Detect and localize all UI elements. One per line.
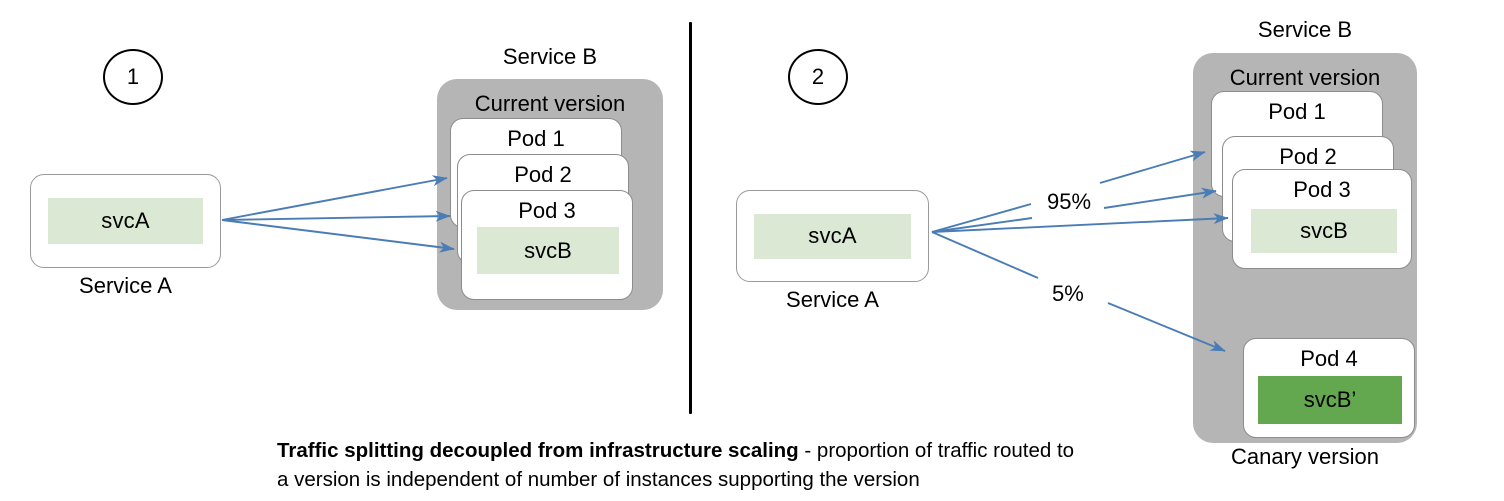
svcb-prime-chip: svcB’ — [1258, 376, 1402, 424]
pod-title: Pod 2 — [1223, 144, 1393, 170]
pod-card-1-3[interactable]: Pod 3 svcB — [461, 190, 633, 300]
figure-caption: Traffic splitting decoupled from infrast… — [277, 436, 1077, 494]
pod-title: Pod 3 — [1233, 177, 1411, 203]
pod-title: Pod 2 — [458, 162, 628, 188]
pod-card-2-4[interactable]: Pod 4 svcB’ — [1243, 338, 1415, 438]
current-version-label-1: Current version — [437, 91, 663, 117]
pod-title: Pod 3 — [462, 198, 632, 224]
caption-bold: Traffic splitting decoupled from infrast… — [277, 439, 799, 462]
pod-title: Pod 4 — [1244, 346, 1414, 372]
arrow-to-pod-2-4-seg1 — [932, 232, 1038, 278]
arrow-to-pod-2-3 — [932, 218, 1228, 232]
traffic-percent-label-95: 95% — [1041, 188, 1097, 216]
service-b-title-1: Service B — [437, 44, 663, 70]
service-b-title-2: Service B — [1193, 17, 1417, 43]
service-a-card-2[interactable]: svcA — [736, 190, 929, 282]
step-number-label: 2 — [812, 66, 824, 88]
canary-version-label: Canary version — [1193, 444, 1417, 470]
step-number-label: 1 — [127, 66, 139, 88]
panel-divider — [689, 22, 692, 414]
diagram-canvas: 1 svcA Service A Service B Current versi… — [0, 0, 1504, 501]
svcb-chip-2: svcB — [1251, 209, 1397, 253]
svcb-chip-1: svcB — [477, 227, 619, 274]
arrow-group-panel-1 — [222, 178, 454, 249]
arrow-to-pod-2-1-seg1 — [932, 204, 1031, 232]
pod-title: Pod 1 — [451, 126, 621, 152]
service-a-caption-1: Service A — [30, 273, 221, 299]
svca-chip-1: svcA — [48, 198, 203, 244]
svca-chip-2: svcA — [754, 214, 911, 259]
arrow-to-pod-2-1-seg2 — [1100, 152, 1205, 183]
current-version-label-2: Current version — [1193, 65, 1417, 91]
traffic-percent-label-5: 5% — [1046, 280, 1090, 308]
pod-title: Pod 1 — [1212, 99, 1382, 125]
step-number-circle-1: 1 — [103, 49, 163, 105]
pod-card-2-3[interactable]: Pod 3 svcB — [1232, 169, 1412, 269]
arrow-to-pod-1-2 — [222, 216, 450, 220]
service-a-caption-2: Service A — [736, 287, 929, 313]
step-number-circle-2: 2 — [788, 49, 848, 105]
arrow-to-pod-1-3 — [222, 220, 454, 249]
arrow-to-pod-2-2-seg1 — [932, 218, 1032, 232]
service-a-card-1[interactable]: svcA — [30, 174, 221, 268]
arrow-to-pod-1-1 — [222, 178, 447, 220]
